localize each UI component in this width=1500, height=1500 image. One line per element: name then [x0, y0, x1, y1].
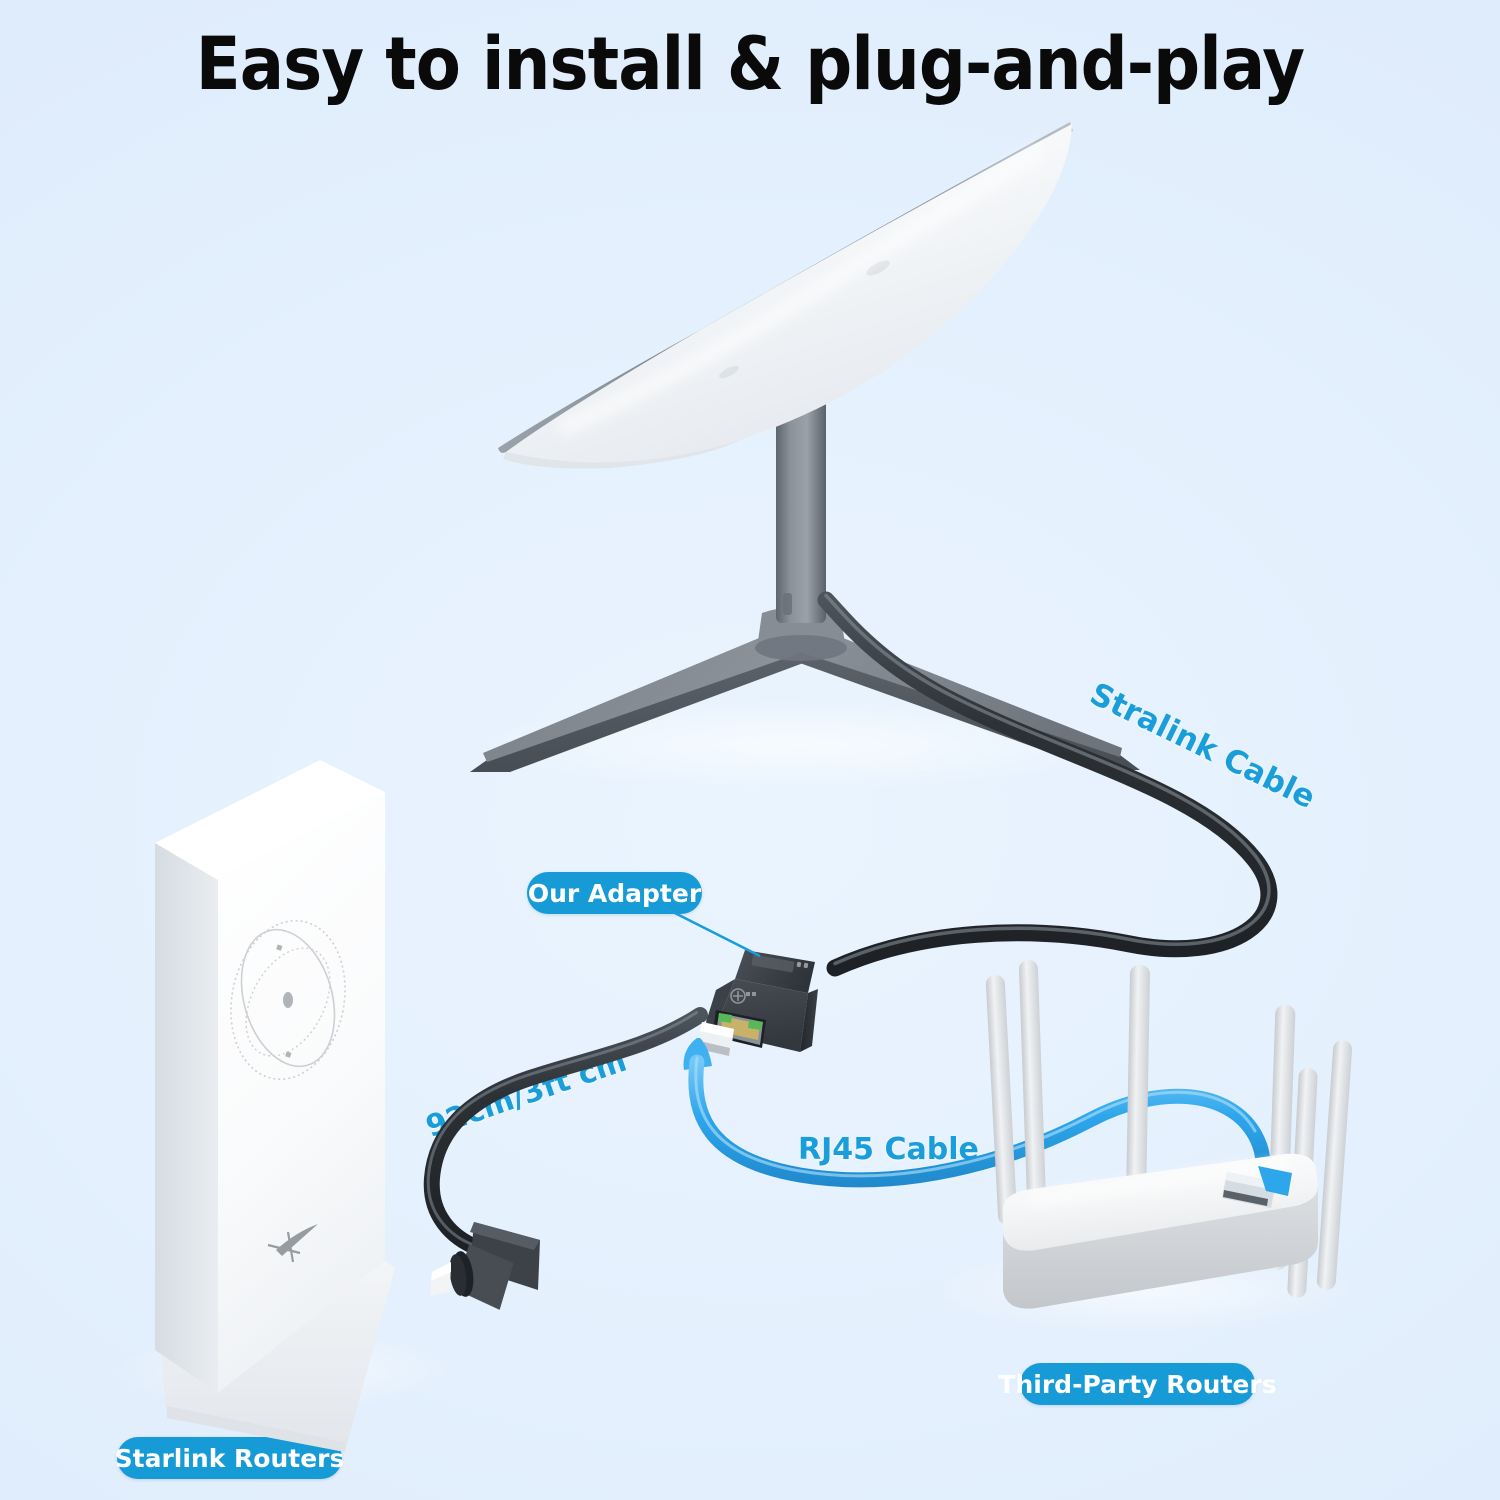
infographic-canvas: Easy to install & plug-and-play	[0, 0, 1500, 1500]
callout-leader-lines	[0, 0, 1500, 1500]
adapter-leader-line	[661, 906, 760, 956]
